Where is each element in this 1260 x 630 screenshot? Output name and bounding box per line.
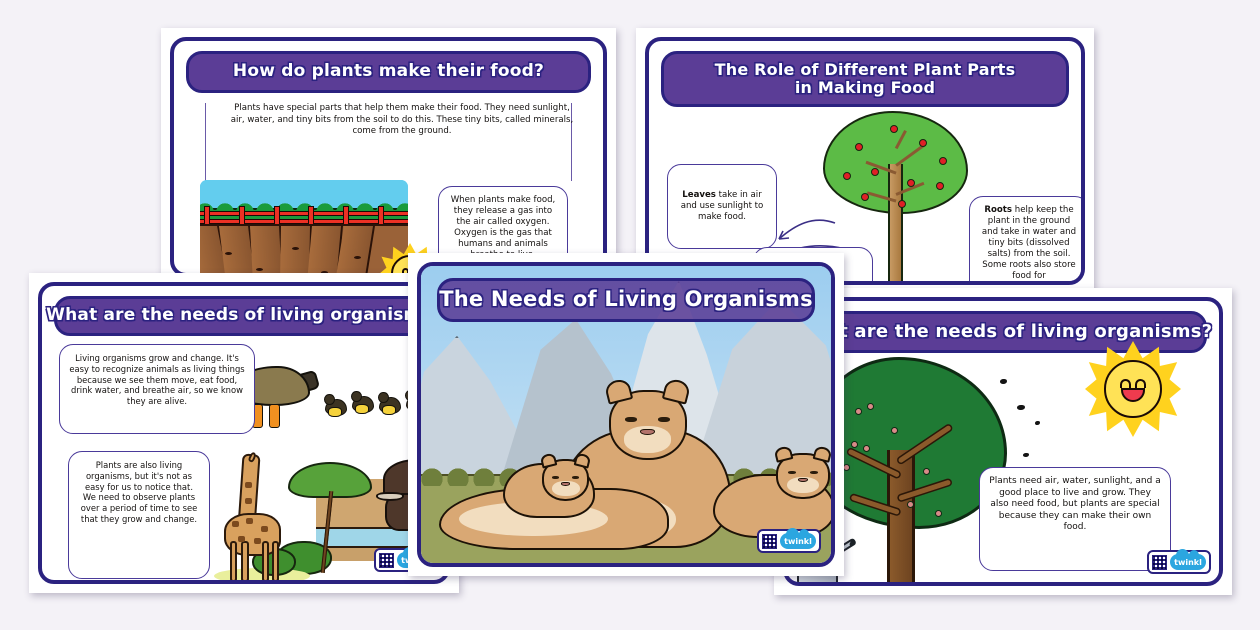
cub-head [776,453,830,499]
giraffe-leg-3 [262,541,269,580]
card-the-needs-of-living-organisms-cover[interactable]: The Needs of Living Organisms twinkl [408,253,844,576]
sun-eye-right [1135,379,1146,388]
card-needs-of-living-organisms-animals[interactable]: Living organisms grow and change. It's e… [29,273,459,593]
callout-plants-are-living: Plants are also living organisms, but it… [68,451,210,579]
mountain-lion-cub-right [713,456,831,538]
can-rose [849,539,855,547]
callout-plant-needs: Plants need air, water, sunlight, and a … [979,467,1171,571]
cub-ear-right [574,453,592,469]
callout-roots-text: help keep the plant in the ground and ta… [982,205,1076,281]
duckling-2 [352,391,374,419]
callout-roots: Roots help keep the plant in the ground … [969,196,1081,281]
callout-leaves: Leaves take in air and use sunlight to m… [667,164,777,249]
callout-animals-are-alive: Living organisms grow and change. It's e… [59,344,255,434]
duck-leg-right [269,404,280,428]
cub-eye-left [788,471,796,474]
cub-ear-left [540,453,558,469]
twinkl-cloud-icon: twinkl [780,533,816,549]
sun-mouth [1121,388,1145,402]
sun-face [1104,360,1162,418]
giraffe-leg-1 [230,541,237,580]
twinkl-wordmark: twinkl [1174,558,1202,567]
twinkl-logo: twinkl [1147,550,1211,574]
card-title-banner: The Needs of Living Organisms [437,278,815,322]
duckling-3 [379,392,401,420]
giraffe-leg-2 [241,541,248,580]
callout-leaves-lead: Leaves [682,190,716,200]
twinkl-wordmark: twinkl [784,537,812,546]
ploughed-field-illustration [200,180,408,273]
giraffe-leg-4 [272,541,279,580]
red-fence [200,208,408,225]
card-title-banner: The Role of Different Plant Parts in Mak… [661,51,1069,107]
cub-eye-left [552,476,559,479]
smiling-sun-icon [1085,341,1181,437]
twinkl-logo: twinkl [757,529,821,553]
slide-thumbnail-collage: Plants have special parts that help them… [0,0,1260,630]
twinkl-cloud-icon: twinkl [1170,554,1206,570]
duckling-1 [325,394,347,422]
cub-eye-right [572,476,579,479]
eye-left [625,417,637,422]
sun-eye-left [1120,379,1131,388]
card-title-banner: How do plants make their food? [186,51,591,93]
tree-trunk [888,164,903,281]
card-title-banner: What are the needs of living organisms? [54,296,434,336]
eye-right [658,417,670,422]
giraffe-head [247,451,256,462]
qr-code-icon [379,553,394,568]
callout-roots-lead: Roots [984,205,1012,215]
intro-paragraph: Plants have special parts that help them… [226,103,578,138]
cub-eye-right [810,471,818,474]
qr-code-icon [762,534,777,549]
soil-furrows [200,224,408,273]
cub-head [542,459,590,501]
card-how-do-plants-make-their-food[interactable]: Plants have special parts that help them… [161,28,616,286]
qr-code-icon [1152,555,1167,570]
giraffe-illustration [219,454,299,580]
head [609,390,687,460]
mountain-lion-cub-left [503,448,595,518]
